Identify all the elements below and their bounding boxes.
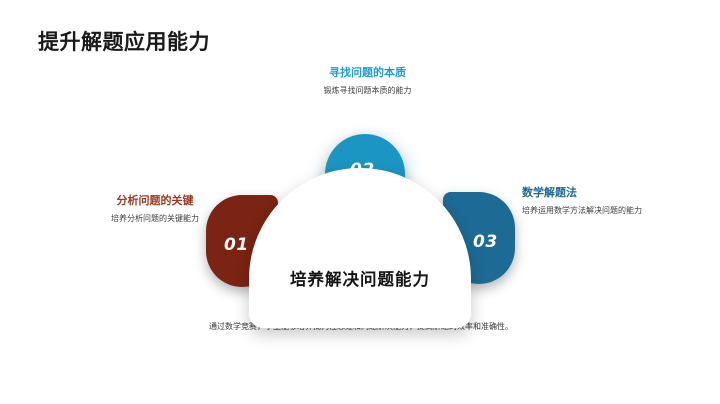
callout-top-description: 锻炼寻找问题本质的能力 [300, 85, 435, 97]
petal-number-03: 03 [473, 232, 498, 252]
page-title: 提升解题应用能力 [38, 26, 210, 56]
petal-diagram: 01 02 03 培养解决问题能力 [0, 120, 720, 305]
callout-top-heading: 寻找问题的本质 [300, 66, 435, 80]
petal-number-01: 01 [224, 235, 249, 255]
center-dome-label: 培养解决问题能力 [249, 266, 471, 290]
center-dome: 培养解决问题能力 [249, 168, 471, 328]
slide-canvas: 提升解题应用能力 寻找问题的本质 锻炼寻找问题本质的能力 分析问题的关键 培养分… [0, 0, 720, 404]
callout-top: 寻找问题的本质 锻炼寻找问题本质的能力 [300, 66, 435, 98]
